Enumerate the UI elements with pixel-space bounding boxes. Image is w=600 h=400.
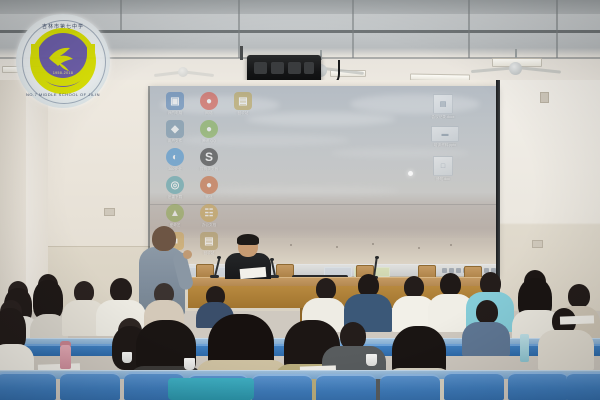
wall-socket (532, 240, 543, 248)
desktop-icon-label: 我的电脑 (160, 111, 190, 115)
lecture-seat[interactable] (0, 372, 56, 400)
desktop-icon[interactable]: ●腾讯 QQ (194, 120, 224, 143)
lecture-seat[interactable] (60, 372, 120, 400)
desktop-icon[interactable]: ▤回收站 (194, 232, 224, 255)
desktop-icon-glyph: ● (200, 92, 218, 110)
ceiling-panel-line (120, 0, 122, 30)
ceiling-upper-band (0, 0, 600, 14)
lecture-hall-photo: 吉林市第七中学 1958-2018 NO.7 MIDDLE SCHOOL OF … (0, 0, 600, 400)
emblem-bird-icon (46, 44, 80, 74)
desktop-icon-label: 办公文档 (194, 223, 224, 227)
desktop-icon-label: 培训资料.pptx (428, 143, 462, 147)
white-cup (366, 354, 377, 366)
desktop-icon-glyph: S (200, 148, 218, 166)
presenter-head (152, 226, 176, 251)
desktop-icon-label: 迅雷下载 (160, 195, 190, 199)
desktop-icon-label: 微信 (194, 195, 224, 199)
emblem-text-bottom: NO.7 MIDDLE SCHOOL OF JILIN (16, 92, 110, 97)
emblem-year: 1958-2018 (16, 71, 110, 75)
desktop-icon-glyph: ▤ (433, 94, 453, 114)
desktop-icon-label: 360安全 (160, 167, 190, 171)
projection-screen[interactable]: ▣我的电脑 ●网络 ▤回收站 ◆用户文件 ●腾讯 QQ ◐360安全 S搜狗浏览… (150, 86, 498, 276)
lecture-seat[interactable] (316, 374, 376, 400)
lecture-seat[interactable] (252, 374, 312, 400)
desktop-icon-label: 通知.doc (428, 177, 458, 181)
blue-cloth (168, 378, 254, 400)
ceiling-panel-line (468, 0, 470, 58)
desktop-icon[interactable]: ▬培训资料.pptx (428, 126, 462, 147)
desktop-icon-glyph: ◐ (166, 148, 184, 166)
desktop-icon[interactable]: ▣我的电脑 (160, 92, 190, 115)
lecture-seat[interactable] (444, 372, 504, 400)
desktop-icon-glyph: ▣ (166, 92, 184, 110)
desktop-icon[interactable]: ●网络 (194, 92, 224, 115)
school-emblem: 吉林市第七中学 1958-2018 NO.7 MIDDLE SCHOOL OF … (16, 14, 110, 108)
wall-fixture (540, 92, 549, 103)
projector[interactable] (247, 55, 321, 83)
projector-mount (240, 46, 243, 60)
speaker-hair (237, 234, 259, 245)
desktop-icon-label: 网络 (194, 111, 224, 115)
desktop-icon-glyph: ▤ (200, 232, 218, 250)
ceiling-panel-line (352, 0, 354, 58)
desktop-icon[interactable]: ▤回收站 (228, 92, 258, 115)
white-cup (184, 358, 195, 370)
desktop-icon[interactable]: ▤会议记录.docx (428, 94, 458, 119)
ceiling-panel-line (556, 0, 558, 58)
tray-icon[interactable] (442, 268, 447, 273)
lecture-seat[interactable] (380, 374, 440, 400)
desktop-icon-glyph: ● (200, 176, 218, 194)
desktop-icon[interactable]: ▲爱奇艺 (160, 204, 190, 227)
desktop-icon-glyph: ● (200, 120, 218, 138)
desktop-icon-glyph: ◆ (166, 120, 184, 138)
desktop-icon-label: 搜狗浏览器 (194, 167, 224, 171)
wall-socket (104, 208, 115, 216)
wallpaper-sun (408, 171, 413, 176)
desktop-icon[interactable]: ◎迅雷下载 (160, 176, 190, 199)
desktop-icon[interactable]: ☷办公文档 (194, 204, 224, 227)
wall-right (498, 80, 600, 310)
white-cup (122, 352, 132, 363)
desktop-icon-glyph: ▲ (166, 204, 184, 222)
desktop-icon[interactable]: ◐360安全 (160, 148, 190, 171)
desktop-icon-glyph: ▤ (234, 92, 252, 110)
papers (560, 315, 594, 324)
desktop-icon[interactable]: ◆用户文件 (160, 120, 190, 143)
desktop-icon-glyph: ☷ (200, 204, 218, 222)
water-bottle (520, 334, 529, 362)
desktop-icon-glyph: ◎ (166, 176, 184, 194)
tray-icon[interactable] (456, 268, 461, 273)
desktop-icon-glyph: □ (433, 156, 453, 176)
pink-thermos (60, 345, 71, 369)
desktop-icon[interactable]: ●微信 (194, 176, 224, 199)
desktop-icon[interactable]: □通知.doc (428, 156, 458, 181)
desktop-icon-label: 回收站 (228, 111, 258, 115)
desktop-icon[interactable]: S搜狗浏览器 (194, 148, 224, 171)
lecture-seat[interactable] (508, 372, 568, 400)
desktop-icon-label: 会议记录.docx (428, 115, 458, 119)
screen-right-edge (496, 80, 500, 294)
desktop-icon-glyph: ▬ (431, 126, 459, 142)
lecture-seat[interactable] (566, 372, 600, 400)
presenter-hand (183, 250, 192, 259)
desktop-icon-label: 用户文件 (160, 139, 190, 143)
desktop-icon-label: 腾讯 QQ (194, 139, 224, 143)
wall-left-column (0, 80, 26, 310)
desktop-icon-label: 回收站 (194, 251, 224, 255)
